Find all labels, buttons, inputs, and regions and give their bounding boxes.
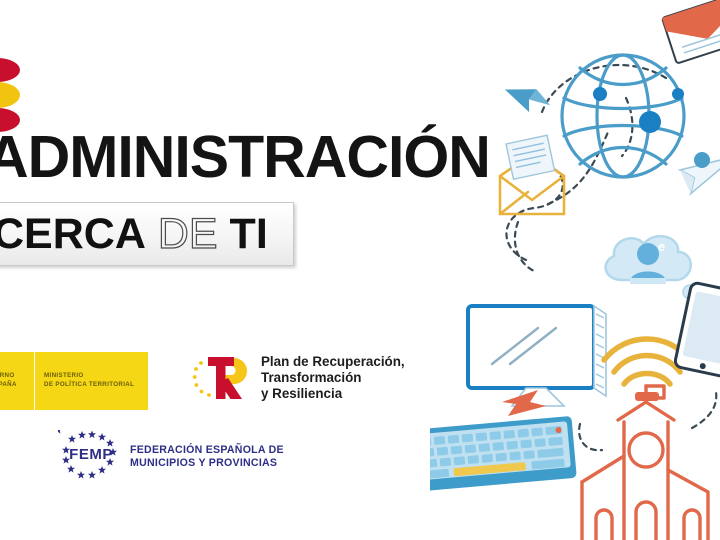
- monitor-icon: [468, 306, 606, 416]
- poster-canvas: ADMINISTRACIÓN CERCA DE TI GOBIERNO DE E…: [0, 0, 720, 540]
- page-title: ADMINISTRACIÓN: [0, 126, 490, 188]
- tablet-icon: [674, 282, 720, 378]
- svg-text:FEMP: FEMP: [69, 446, 113, 463]
- plan-line-2: Transformación: [261, 370, 405, 386]
- tr-monogram-icon: [190, 352, 252, 404]
- femp-text: FEDERACIÓN ESPAÑOLA DE MUNICIPIOS Y PROV…: [130, 444, 284, 470]
- town-hall-icon: [566, 386, 712, 540]
- plan-recuperacion-text: Plan de Recuperación, Transformación y R…: [261, 354, 405, 403]
- gobierno-line-2: DE ESPAÑA: [0, 381, 34, 390]
- gobierno-de-espana-logo: GOBIERNO DE ESPAÑA MINISTERIO DE POLÍTIC…: [0, 352, 148, 410]
- keyboard-icon: [430, 416, 577, 492]
- plan-line-1: Plan de Recuperación,: [261, 354, 405, 370]
- ministerio-line-1: MINISTERIO: [44, 372, 148, 381]
- roundel-band-red-top: [0, 58, 20, 82]
- spain-flag-roundel: [0, 58, 20, 132]
- tagline-word-de: DE: [146, 210, 230, 258]
- plan-recuperacion-logo: Plan de Recuperación, Transformación y R…: [190, 352, 405, 404]
- tagline-word-ti: TI: [230, 210, 268, 258]
- svg-text:e: e: [658, 239, 665, 254]
- femp-logo: FEMP FEDERACIÓN ESPAÑOLA DE MUNICIPIOS Y…: [58, 430, 284, 484]
- femp-emblem-icon: FEMP: [58, 430, 124, 484]
- gobierno-line-1: GOBIERNO: [0, 372, 34, 381]
- tagline-word-cerca: CERCA: [0, 210, 146, 258]
- paper-plane-icon: [501, 80, 554, 118]
- globe-network-icon: [562, 55, 684, 177]
- gobierno-block: GOBIERNO DE ESPAÑA: [0, 352, 34, 410]
- femp-line-2: MUNICIPIOS Y PROVINCIAS: [130, 457, 284, 470]
- ministerio-block: MINISTERIO DE POLÍTICA TERRITORIAL: [34, 352, 148, 410]
- yellow-envelope-icon: [500, 135, 564, 214]
- plane-node: [694, 152, 710, 168]
- orange-envelope-icon: [662, 0, 720, 64]
- femp-line-1: FEDERACIÓN ESPAÑOLA DE: [130, 444, 284, 457]
- digital-administration-illustration: Digital administration illustration: glo…: [430, 0, 720, 540]
- plan-line-3: y Resiliencia: [261, 386, 405, 402]
- tagline-text: CERCA DE TI: [0, 212, 268, 257]
- ministerio-line-2: DE POLÍTICA TERRITORIAL: [44, 381, 148, 390]
- roundel-band-yellow: [0, 82, 20, 108]
- tagline-box: CERCA DE TI: [0, 202, 294, 266]
